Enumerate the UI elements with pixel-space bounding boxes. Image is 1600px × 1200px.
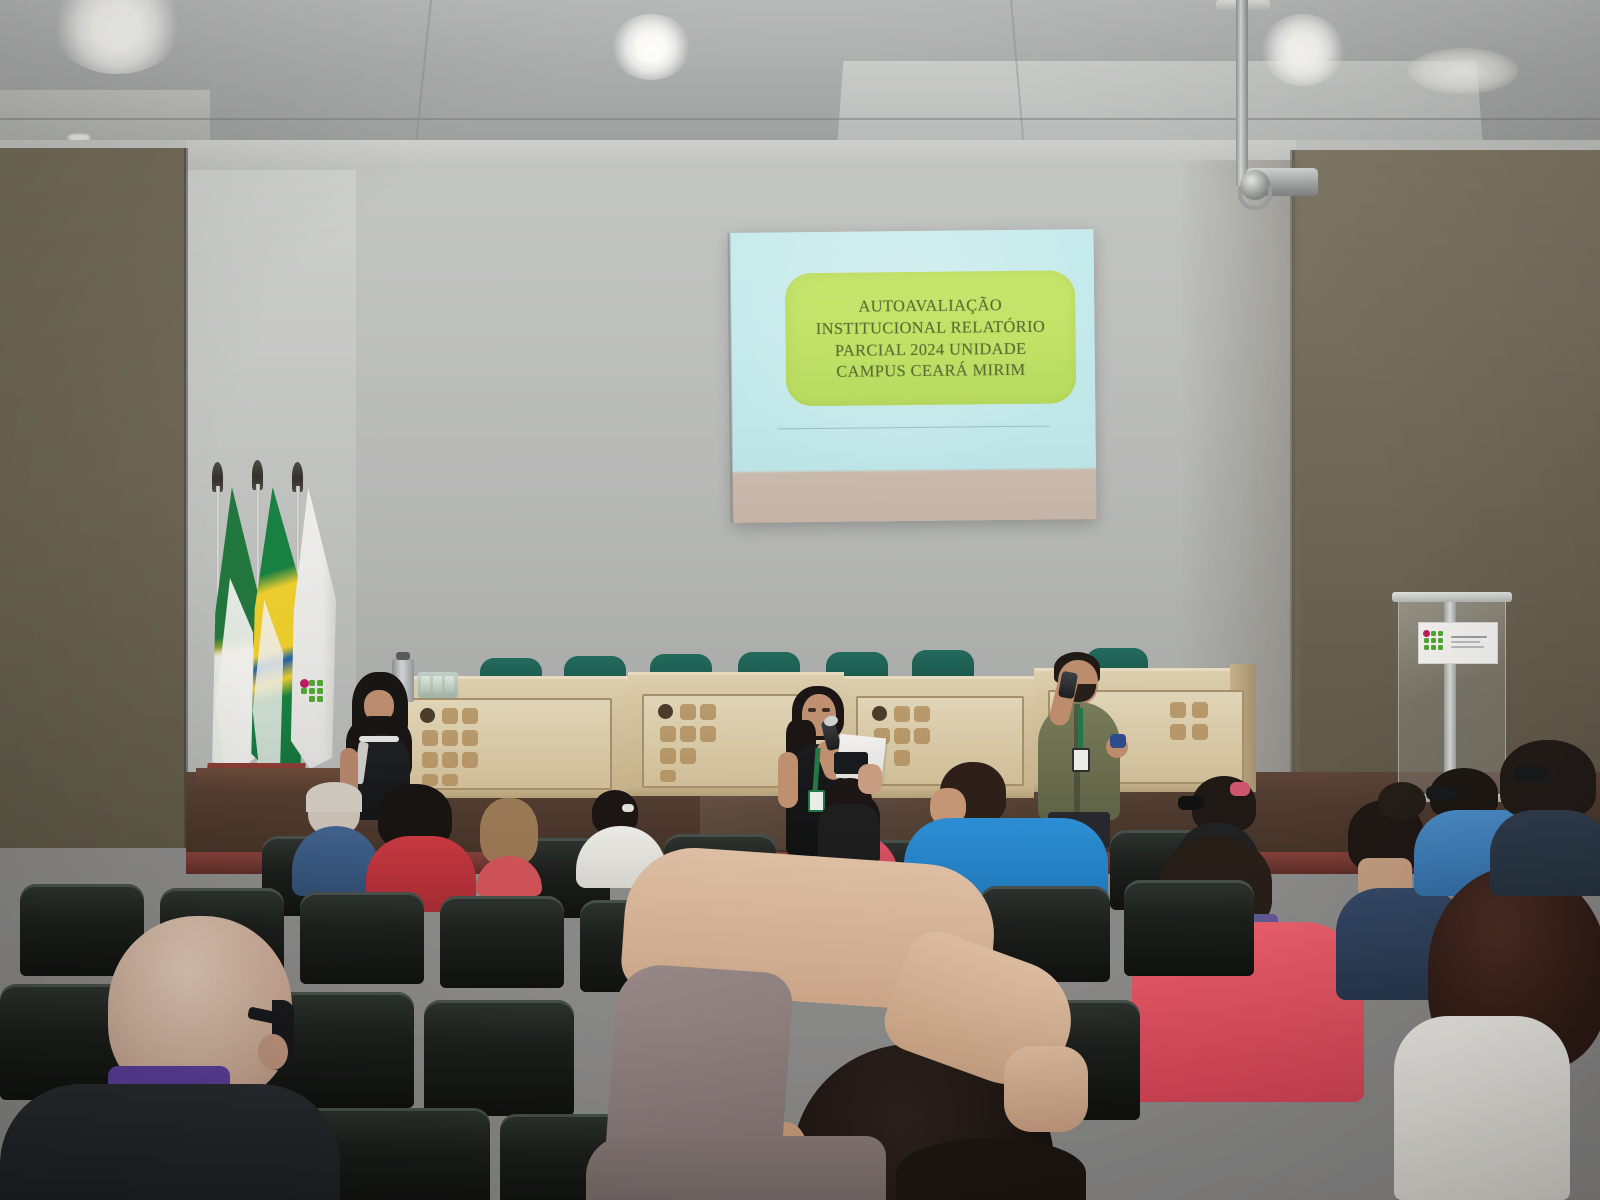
seat[interactable] [424,1000,574,1116]
attendee-torso [818,804,880,862]
glasses-icon [1178,796,1204,810]
ceiling-light-icon [1408,48,1518,94]
seat[interactable] [300,892,424,984]
hair-clip-icon [622,804,634,812]
speaker-collar-trim [359,736,399,742]
ifrn-logo-icon [300,680,326,710]
ceiling-light-icon [612,14,690,80]
ceiling-light-icon [1262,14,1344,86]
auditorium-photo: AUTOAVALIAÇÃOINSTITUCIONAL RELATÓRIOPARC… [0,0,1600,1200]
left-wall-edge [184,148,188,848]
attendee-torso [586,1136,886,1200]
speaker-eye [808,708,816,712]
slide-title-box: AUTOAVALIAÇÃOINSTITUCIONAL RELATÓRIOPARC… [785,270,1076,406]
attendee-hair [896,1138,1086,1200]
slide-title-line: AUTOAVALIAÇÃO [815,294,1045,318]
attendee-hair [306,782,362,812]
slide-title-line: INSTITUCIONAL RELATÓRIO [816,315,1046,339]
ceiling-seam [0,118,1600,120]
slide-title-line: CAMPUS CEARÁ MIRIM [816,359,1046,383]
attendee-hair-bun [1378,782,1426,820]
thermos-lid [396,652,410,660]
blue-object-icon [1110,734,1126,748]
podium-sign-text-lines [1447,636,1493,651]
attendee-torso [0,1084,340,1200]
lanyard [1078,708,1083,750]
projector-mount-pole [1236,0,1248,186]
attendee-hand [858,764,882,794]
speaker-arm-left [778,752,798,808]
seat[interactable] [440,896,564,988]
id-badge [808,790,825,812]
podium-top-surface [1392,592,1512,602]
slide-title-text: AUTOAVALIAÇÃOINSTITUCIONAL RELATÓRIOPARC… [805,294,1055,383]
speaker-eye [822,708,830,712]
attendee-torso [1490,810,1600,896]
attendee-hand [1004,1046,1088,1132]
hair-tie-icon [1230,782,1250,796]
id-badge [1072,748,1090,772]
attendee-torso [1394,1016,1570,1200]
wall-soffit [186,140,1296,170]
slide-title-line: PARCIAL 2024 UNIDADE [816,337,1046,361]
glasses-icon [1426,786,1456,800]
projection-screen: AUTOAVALIAÇÃOINSTITUCIONAL RELATÓRIOPARC… [729,229,1096,523]
left-wall-panel [0,148,186,848]
glasses-tray [418,672,458,698]
podium-logo-sign [1418,622,1498,664]
seat[interactable] [1124,880,1254,976]
glasses-icon [1514,766,1548,782]
table-front-panel [404,698,612,790]
attendee-ear [258,1034,288,1070]
ifrn-logo-icon [1423,630,1447,656]
